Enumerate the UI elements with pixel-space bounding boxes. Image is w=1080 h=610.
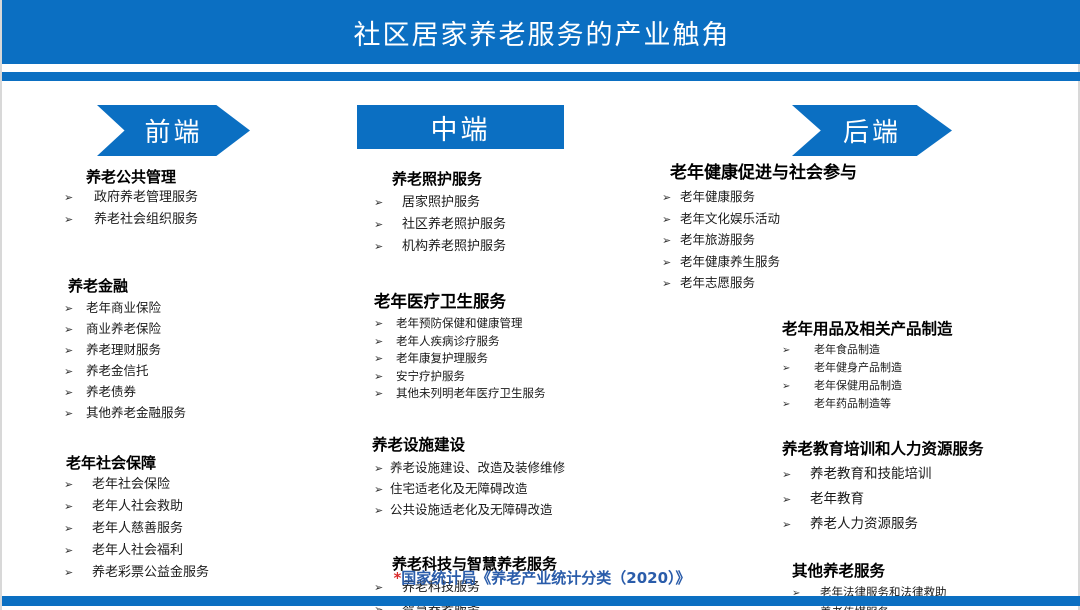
service-item: ➢老年人社会救助 [64, 496, 314, 518]
service-item-label: 老年食品制造 [814, 341, 880, 358]
arrow-bullet-icon: ➢ [64, 518, 92, 540]
service-item: ➢老年人社会福利 [64, 540, 314, 562]
service-item-label: 老年人社会福利 [92, 540, 183, 562]
service-item-list: ➢养老教育和技能培训➢老年教育➢养老人力资源服务 [782, 462, 1012, 537]
service-group-title: 老年社会保障 [66, 452, 314, 473]
service-group-title: 养老金融 [68, 275, 314, 296]
service-item-list: ➢老年食品制造➢老年健身产品制造➢老年保健用品制造➢老年药品制造等 [782, 341, 1012, 413]
service-item: ➢养老金信托 [64, 361, 314, 382]
column-back: 老年健康促进与社会参与➢老年健康服务➢老年文化娱乐活动➢老年旅游服务➢老年健康养… [662, 158, 1012, 610]
column-banner-mid: 中端 [357, 105, 564, 149]
service-item: ➢公共设施适老化及无障碍改造 [374, 500, 664, 521]
service-item-label: 老年人慈善服务 [92, 518, 183, 540]
service-item: ➢养老理财服务 [64, 340, 314, 361]
arrow-bullet-icon: ➢ [64, 187, 94, 209]
service-item: ➢养老人力资源服务 [782, 512, 1012, 537]
service-group-title: 老年医疗卫生服务 [374, 288, 664, 312]
arrow-bullet-icon: ➢ [64, 383, 86, 403]
column-mid: 养老照护服务➢居家照护服务➢社区养老照护服务➢机构养老照护服务老年医疗卫生服务➢… [374, 168, 664, 610]
service-item-label: 老年健康养生服务 [680, 252, 780, 273]
service-group: 养老照护服务➢居家照护服务➢社区养老照护服务➢机构养老照护服务 [374, 168, 664, 258]
service-item: ➢老年商业保险 [64, 298, 314, 319]
service-item: ➢老年文化娱乐活动 [662, 209, 1012, 231]
service-item-label: 养老人力资源服务 [810, 512, 918, 536]
service-item: ➢政府养老管理服务 [64, 187, 314, 209]
arrow-bullet-icon: ➢ [662, 274, 680, 295]
service-item: ➢社区养老照护服务 [374, 214, 664, 236]
service-item-list: ➢居家照护服务➢社区养老照护服务➢机构养老照护服务 [374, 192, 664, 258]
service-item: ➢老年健康养生服务 [662, 252, 1012, 274]
service-item: ➢商业养老保险 [64, 319, 314, 340]
service-item-label: 住宅适老化及无障碍改造 [390, 479, 528, 499]
service-item-label: 养老社会组织服务 [94, 209, 198, 231]
service-group: 老年健康促进与社会参与➢老年健康服务➢老年文化娱乐活动➢老年旅游服务➢老年健康养… [662, 158, 1012, 295]
column-banner-back: 后端 [792, 105, 952, 156]
service-item-label: 老年药品制造等 [814, 395, 891, 412]
service-item-label: 公共设施适老化及无障碍改造 [390, 500, 553, 520]
service-item: ➢养老设施建设、改造及装修维修 [374, 458, 664, 479]
column-banner-back-label: 后端 [843, 112, 901, 149]
service-group-title: 养老公共管理 [86, 166, 314, 187]
service-item-label: 社区养老照护服务 [402, 214, 506, 236]
service-item: ➢居家照护服务 [374, 192, 664, 214]
service-item-label: 老年人社会救助 [92, 496, 183, 518]
service-group: 养老教育培训和人力资源服务➢养老教育和技能培训➢老年教育➢养老人力资源服务 [662, 437, 1012, 537]
service-group: 老年社会保障➢老年社会保险➢老年人社会救助➢老年人慈善服务➢老年人社会福利➢养老… [64, 452, 314, 584]
arrow-bullet-icon: ➢ [782, 488, 810, 512]
arrow-bullet-icon: ➢ [782, 463, 810, 487]
service-item: ➢老年康复护理服务 [374, 350, 664, 368]
service-item-label: 机构养老照护服务 [402, 236, 506, 258]
service-item-label: 老年教育 [810, 487, 864, 511]
service-group: 养老公共管理➢政府养老管理服务➢养老社会组织服务 [64, 166, 314, 231]
service-item: ➢养老债券 [64, 382, 314, 403]
service-item-label: 养老金信托 [86, 361, 149, 381]
arrow-bullet-icon: ➢ [374, 236, 402, 258]
arrow-bullet-icon: ➢ [782, 378, 814, 395]
service-item: ➢养老社会组织服务 [64, 209, 314, 231]
service-item-label: 老年预防保健和健康管理 [396, 315, 523, 333]
service-item-label: 老年文化娱乐活动 [680, 209, 780, 230]
slide-canvas: 社区居家养老服务的产业触角 前端 中端 后端 养老公共管理➢政府养老管理服务➢养… [0, 0, 1080, 610]
arrow-bullet-icon: ➢ [64, 362, 86, 382]
arrow-bullet-icon: ➢ [662, 210, 680, 231]
arrow-bullet-icon: ➢ [64, 540, 92, 562]
column-banner-front: 前端 [97, 105, 250, 156]
service-item-label: 其他养老金融服务 [86, 403, 186, 423]
arrow-bullet-icon: ➢ [374, 480, 390, 500]
arrow-bullet-icon: ➢ [374, 385, 396, 403]
service-item: ➢老年保健用品制造 [782, 377, 1012, 395]
header-divider-rule [2, 72, 1080, 81]
service-group-title: 老年用品及相关产品制造 [782, 317, 1012, 339]
service-item: ➢老年志愿服务 [662, 273, 1012, 295]
service-item-label: 老年旅游服务 [680, 230, 755, 251]
arrow-bullet-icon: ➢ [64, 341, 86, 361]
service-item: ➢老年健康服务 [662, 187, 1012, 209]
service-group: 老年医疗卫生服务➢老年预防保健和健康管理➢老年人疾病诊疗服务➢老年康复护理服务➢… [374, 288, 664, 403]
service-item: ➢老年健身产品制造 [782, 359, 1012, 377]
arrow-bullet-icon: ➢ [374, 350, 396, 368]
service-item-label: 老年健身产品制造 [814, 359, 902, 376]
service-item-label: 养老设施建设、改造及装修维修 [390, 458, 565, 478]
service-item: ➢老年人慈善服务 [64, 518, 314, 540]
source-footnote-text: 国家统计局《养老产业统计分类（2020）》 [401, 569, 690, 587]
service-group-title: 老年健康促进与社会参与 [670, 158, 1012, 183]
arrow-bullet-icon: ➢ [64, 496, 92, 518]
service-item: ➢老年预防保健和健康管理 [374, 315, 664, 333]
page-title: 社区居家养老服务的产业触角 [354, 13, 731, 52]
service-item-label: 老年社会保险 [92, 474, 170, 496]
service-item-label: 养老理财服务 [86, 340, 161, 360]
service-item-list: ➢老年健康服务➢老年文化娱乐活动➢老年旅游服务➢老年健康养生服务➢老年志愿服务 [662, 187, 1012, 295]
service-item-label: 居家照护服务 [402, 192, 480, 214]
service-item-label: 老年保健用品制造 [814, 377, 902, 394]
arrow-bullet-icon: ➢ [64, 474, 92, 496]
arrow-bullet-icon: ➢ [782, 396, 814, 413]
service-group: 养老设施建设➢养老设施建设、改造及装修维修➢住宅适老化及无障碍改造➢公共设施适老… [374, 433, 664, 521]
service-group-title: 养老照护服务 [392, 168, 664, 189]
arrow-bullet-icon: ➢ [64, 209, 94, 231]
column-banner-mid-label: 中端 [431, 108, 491, 147]
arrow-bullet-icon: ➢ [782, 342, 814, 359]
service-item-label: 老年人疾病诊疗服务 [396, 333, 500, 351]
arrow-bullet-icon: ➢ [374, 501, 390, 521]
service-item: ➢其他养老金融服务 [64, 403, 314, 424]
footer-divider-rule [2, 596, 1080, 606]
service-item: ➢老年药品制造等 [782, 395, 1012, 413]
source-footnote: *国家统计局《养老产业统计分类（2020）》 [2, 567, 1080, 588]
arrow-bullet-icon: ➢ [374, 315, 396, 333]
service-item-label: 老年康复护理服务 [396, 350, 488, 368]
arrow-bullet-icon: ➢ [64, 404, 86, 424]
arrow-bullet-icon: ➢ [64, 299, 86, 319]
service-item-label: 养老教育和技能培训 [810, 462, 932, 486]
service-group-title: 养老教育培训和人力资源服务 [782, 437, 1012, 459]
service-item: ➢老年旅游服务 [662, 230, 1012, 252]
arrow-bullet-icon: ➢ [374, 459, 390, 479]
arrow-bullet-icon: ➢ [64, 320, 86, 340]
arrow-bullet-icon: ➢ [662, 231, 680, 252]
service-group: 养老金融➢老年商业保险➢商业养老保险➢养老理财服务➢养老金信托➢养老债券➢其他养… [64, 275, 314, 424]
service-item: ➢安宁疗护服务 [374, 368, 664, 386]
service-item: ➢养老教育和技能培训 [782, 462, 1012, 487]
service-item-list: ➢老年预防保健和健康管理➢老年人疾病诊疗服务➢老年康复护理服务➢安宁疗护服务➢其… [374, 315, 664, 403]
service-item-label: 老年志愿服务 [680, 273, 755, 294]
service-item-label: 安宁疗护服务 [396, 368, 465, 386]
service-item: ➢机构养老照护服务 [374, 236, 664, 258]
service-item-list: ➢养老设施建设、改造及装修维修➢住宅适老化及无障碍改造➢公共设施适老化及无障碍改… [374, 458, 664, 521]
service-item-label: 养老债券 [86, 382, 136, 402]
service-item: ➢老年食品制造 [782, 341, 1012, 359]
arrow-bullet-icon: ➢ [374, 368, 396, 386]
arrow-bullet-icon: ➢ [782, 360, 814, 377]
arrow-bullet-icon: ➢ [782, 513, 810, 537]
header-banner: 社区居家养老服务的产业触角 [2, 0, 1080, 64]
arrow-bullet-icon: ➢ [662, 253, 680, 274]
service-item-list: ➢政府养老管理服务➢养老社会组织服务 [64, 187, 314, 231]
service-item-label: 商业养老保险 [86, 319, 161, 339]
service-item-label: 政府养老管理服务 [94, 187, 198, 209]
service-item-list: ➢老年商业保险➢商业养老保险➢养老理财服务➢养老金信托➢养老债券➢其他养老金融服… [64, 298, 314, 424]
arrow-bullet-icon: ➢ [662, 188, 680, 209]
service-item-label: 老年健康服务 [680, 187, 755, 208]
column-front: 养老公共管理➢政府养老管理服务➢养老社会组织服务养老金融➢老年商业保险➢商业养老… [64, 166, 314, 590]
service-group-title: 养老设施建设 [372, 433, 664, 455]
arrow-bullet-icon: ➢ [374, 214, 402, 236]
service-item: ➢老年人疾病诊疗服务 [374, 333, 664, 351]
service-item: ➢住宅适老化及无障碍改造 [374, 479, 664, 500]
service-item: ➢老年社会保险 [64, 474, 314, 496]
service-item: ➢其他未列明老年医疗卫生服务 [374, 385, 664, 403]
service-item: ➢老年教育 [782, 487, 1012, 512]
service-item-label: 老年商业保险 [86, 298, 161, 318]
service-group: 老年用品及相关产品制造➢老年食品制造➢老年健身产品制造➢老年保健用品制造➢老年药… [662, 317, 1012, 413]
arrow-bullet-icon: ➢ [374, 333, 396, 351]
arrow-bullet-icon: ➢ [374, 192, 402, 214]
column-banner-front-label: 前端 [144, 112, 202, 149]
service-item-label: 其他未列明老年医疗卫生服务 [396, 385, 546, 403]
